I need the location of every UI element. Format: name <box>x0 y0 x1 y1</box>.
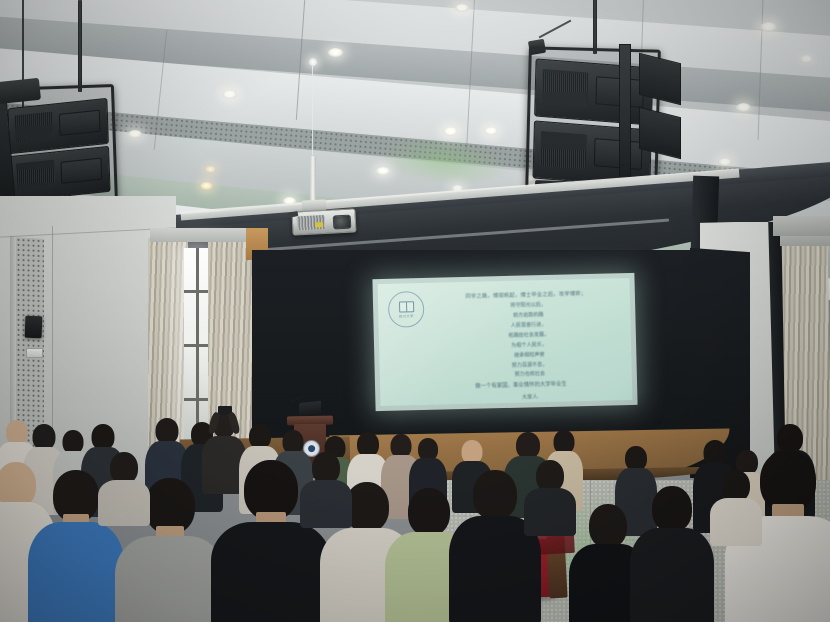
speaker-connector-plate <box>59 109 101 136</box>
right-upper-trim <box>773 216 830 236</box>
auditorium-photo: 四川大学 同学之路，博观帆起，博士毕业之后，攻学博弈； 将守阳光以后， 前方岩款… <box>0 0 830 622</box>
projector-indicator <box>315 222 323 227</box>
downlight <box>800 55 813 63</box>
audience-member <box>104 452 144 512</box>
torso <box>300 480 352 528</box>
head <box>244 460 298 520</box>
downlight <box>222 90 237 99</box>
speaker-cabinet <box>8 98 109 154</box>
downlight <box>443 127 458 136</box>
torso <box>710 498 762 546</box>
audience-member <box>232 460 310 622</box>
audience-member <box>580 504 636 622</box>
torso <box>630 528 714 622</box>
head <box>652 486 692 532</box>
head <box>408 488 450 536</box>
head <box>473 470 517 520</box>
projection-screen[interactable]: 四川大学 同学之路，博观帆起，博士毕业之后，攻学博弈； 将守阳光以后， 前方岩款… <box>378 278 633 406</box>
torso <box>28 522 124 622</box>
pendant-light <box>309 58 317 66</box>
downlight <box>455 4 469 12</box>
ceiling-projector <box>286 196 372 252</box>
speaker-grille <box>541 69 588 107</box>
head <box>589 504 627 548</box>
wall-mounted-speaker <box>25 316 43 339</box>
speaker-rigging-rod <box>593 0 597 54</box>
pendant-wire <box>312 60 313 155</box>
audience-member <box>642 486 702 622</box>
screen-sheen <box>378 278 633 406</box>
downlight <box>736 103 751 112</box>
curtain-valance <box>150 228 260 242</box>
wall-control-plate <box>26 348 43 358</box>
audience-member <box>530 460 570 522</box>
projector-body <box>291 208 356 235</box>
audience-member <box>306 452 346 514</box>
head <box>516 432 540 459</box>
audience-member <box>716 470 756 532</box>
torso <box>115 536 225 622</box>
head <box>777 424 803 453</box>
downlight <box>128 130 142 138</box>
torso <box>524 488 576 536</box>
torso <box>211 522 331 622</box>
head <box>760 450 816 512</box>
speaker-rigging-rod <box>78 0 82 92</box>
torso <box>98 480 150 526</box>
downlight <box>484 127 498 135</box>
speaker-cabinet <box>534 58 653 125</box>
speaker-grille <box>14 112 54 143</box>
downlight <box>328 48 343 57</box>
audience-member <box>462 470 528 622</box>
projector-pole <box>310 156 316 202</box>
speaker-cable-bundle <box>0 78 41 104</box>
downlight <box>760 22 777 32</box>
laptop <box>299 401 321 417</box>
projector-lens <box>333 214 352 229</box>
